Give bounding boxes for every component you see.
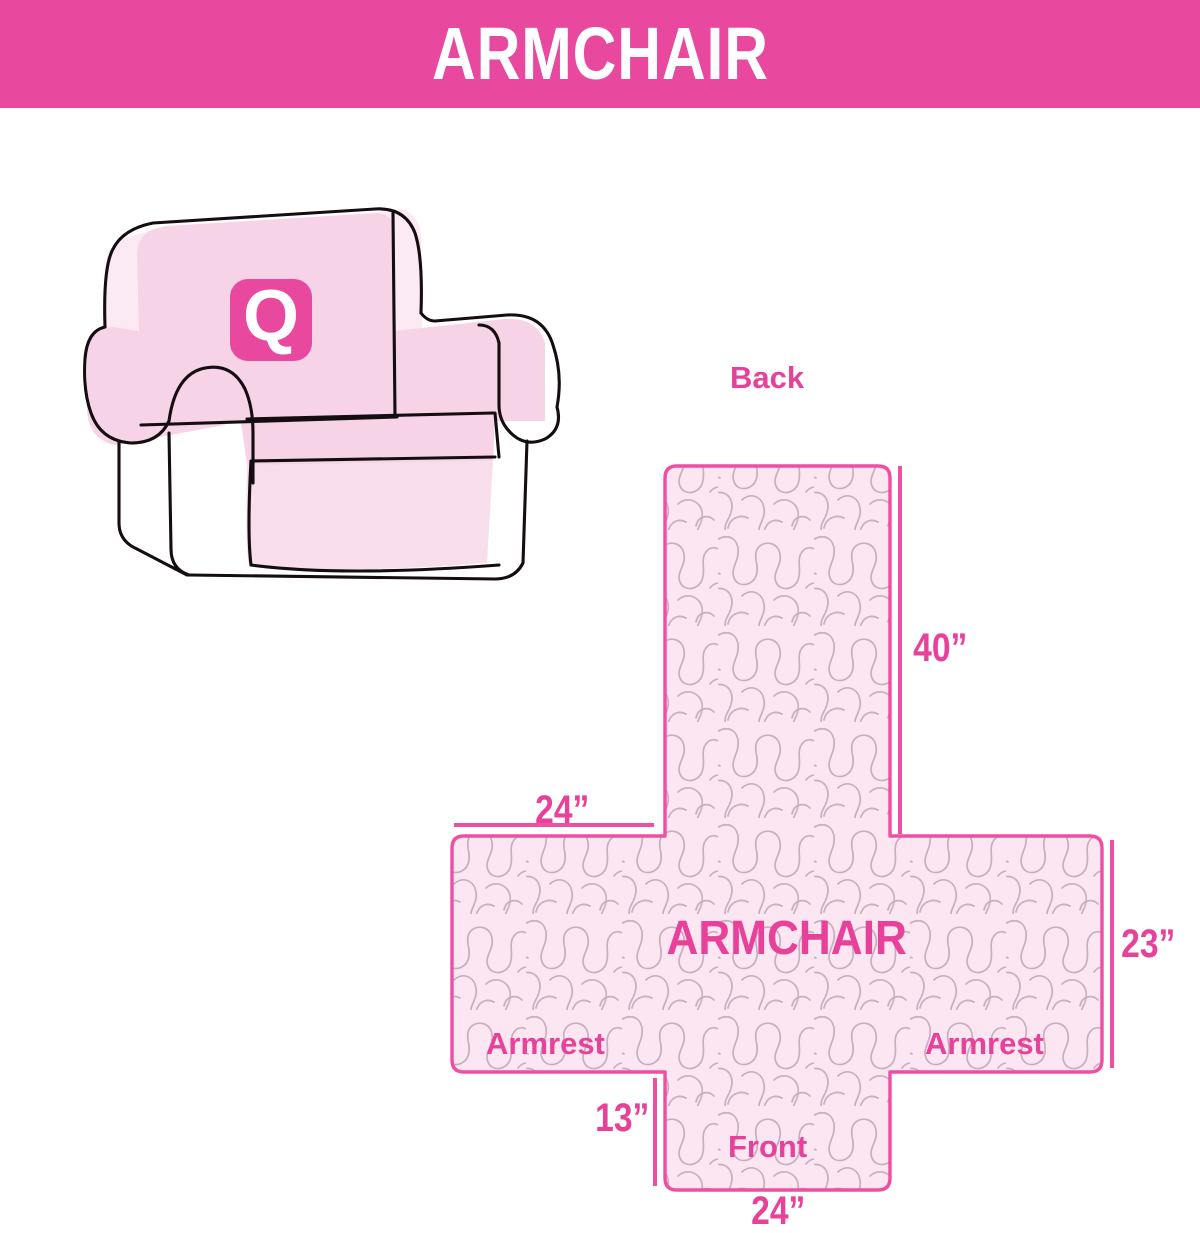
dimension-label-body-height: 23” [1121, 924, 1175, 964]
slipcover-layout-diagram: Back 40” 24” ARMCHAIR 23” Armrest Armres… [430, 338, 1190, 1198]
page-title: ARMCHAIR [432, 17, 769, 91]
panel-label-armrest-right: Armrest [925, 1028, 1044, 1059]
content-area: Q [0, 108, 1200, 1200]
dimension-label-back-height: 40” [913, 628, 967, 668]
panel-label-back: Back [730, 362, 804, 393]
q-logo-badge: Q [230, 276, 312, 361]
dimension-label-back-width: 24” [535, 790, 589, 830]
dimension-label-front-width: 24” [751, 1191, 805, 1231]
panel-label-front: Front [728, 1131, 807, 1162]
dimension-label-front-depth: 13” [595, 1098, 649, 1138]
header-banner: ARMCHAIR [0, 0, 1200, 108]
chair-left-armrest-fill [87, 327, 225, 445]
panel-label-armrest-left: Armrest [486, 1028, 605, 1059]
q-logo-letter: Q [243, 276, 299, 356]
diagram-center-label: ARMCHAIR [666, 915, 906, 963]
